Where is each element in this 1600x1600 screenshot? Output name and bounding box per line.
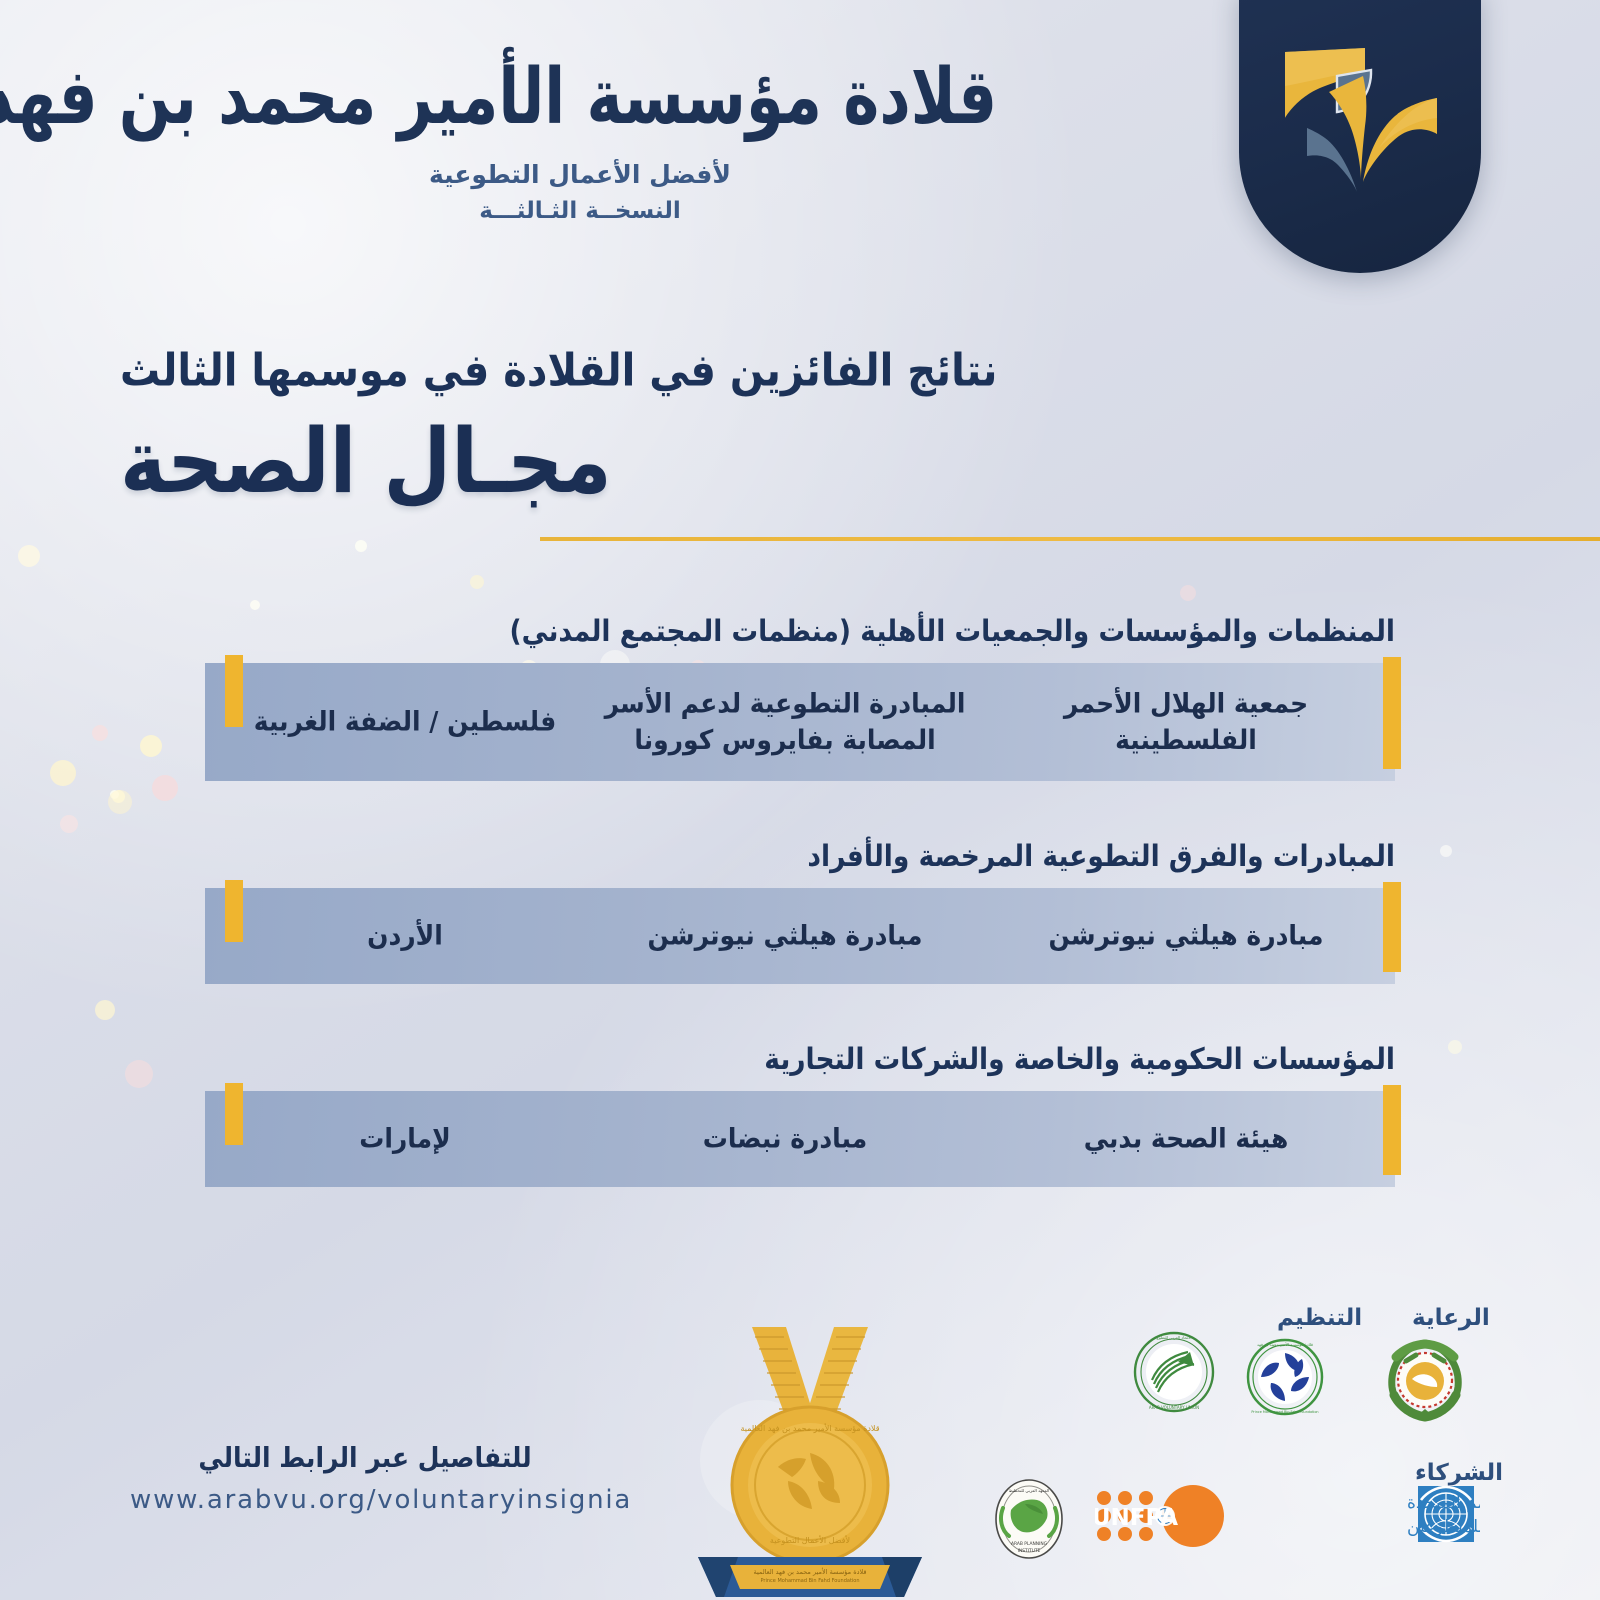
logo-calligraphy-text: قلادة مؤسسة الأمير محمد بن فهد العالمية [163, 52, 997, 143]
svg-text:Prince Mohammad Bin Fahd Found: Prince Mohammad Bin Fahd Foundation [760, 1578, 859, 1584]
page-title: مجـال الصحة [120, 417, 1480, 510]
bokeh-decoration [18, 545, 40, 567]
svg-text:قلادة مؤسسة الأمير محمد بن فهد: قلادة مؤسسة الأمير محمد بن فهد العالمية [753, 1567, 866, 1576]
headline-group: نتائج الفائزين في القلادة في موسمها الثا… [120, 345, 1480, 499]
cell-project: مبادرة هيلثي نيوترشن [575, 918, 995, 954]
svg-text:INSTITUTE: INSTITUTE [1018, 1548, 1041, 1554]
svg-text:قلادة مؤسسة الأمير محمد بن فهد: قلادة مؤسسة الأمير محمد بن فهد [1257, 1342, 1313, 1347]
foundation-wordmark: قلادة مؤسسة الأمير محمد بن فهد العالمية … [150, 52, 1010, 224]
bokeh-decoration [250, 600, 260, 610]
logo-edition: النسخــة الثـالثـــة [150, 198, 1010, 224]
arab-league-logo-icon [1382, 1337, 1468, 1423]
bokeh-decoration [1180, 585, 1196, 601]
result-section: المؤسسات الحكومية والخاصة والشركات التجا… [0, 1042, 1600, 1187]
headline-kicker: نتائج الفائزين في القلادة في موسمها الثا… [120, 345, 1480, 397]
organizer-label: التنظيم [1277, 1305, 1362, 1331]
arab-planning-institute-logo-icon: المعهد العربي للتخطيط ARAB PLANNING INST… [985, 1478, 1073, 1560]
cell-organization: هيئة الصحة بدبي [995, 1121, 1395, 1157]
cell-country: لإمارات [205, 1121, 575, 1157]
sponsor-label: الرعاية [1412, 1305, 1490, 1331]
result-section: المنظمات والمؤسسات والجمعيات الأهلية (من… [0, 614, 1600, 781]
logo-subtitle: لأفضل الأعمال التطوعية [150, 160, 1010, 189]
gold-medal-trophy-icon: قلادة مؤسسة الأمير محمد بن فهد العالمية … [660, 1285, 960, 1600]
section-title: المؤسسات الحكومية والخاصة والشركات التجا… [0, 1042, 1600, 1077]
cell-project: مبادرة نبضات [575, 1121, 995, 1157]
unfpa-logo-icon: UNFPA [1095, 1485, 1235, 1547]
svg-text:ARAB VOLUNTARY UNION: ARAB VOLUNTARY UNION [1149, 1405, 1199, 1410]
details-label: للتفاصيل عبر الرابط التالي [130, 1442, 600, 1474]
prince-mohammad-bin-fahd-foundation-logo-icon: قلادة مؤسسة الأمير محمد بن فهد Prince Mo… [1245, 1337, 1325, 1417]
section-title: المنظمات والمؤسسات والجمعيات الأهلية (من… [0, 614, 1600, 649]
svg-text:الاتحاد العربي للتطوع: الاتحاد العربي للتطوع [1156, 1335, 1191, 1340]
table-row: مبادرة هيلثي نيوترشن مبادرة هيلثي نيوترش… [205, 888, 1395, 984]
svg-text:لأفضل الأعمال التطوعية: لأفضل الأعمال التطوعية [770, 1535, 850, 1545]
cell-country: فلسطين / الضفة الغربية [205, 704, 575, 740]
svg-text:للمتطوعين: للمتطوعين [1407, 1517, 1480, 1537]
table-row: هيئة الصحة بدبي مبادرة نبضات لإمارات [205, 1091, 1395, 1187]
bokeh-decoration [470, 575, 484, 589]
details-url-link[interactable]: www.arabvu.org/voluntaryinsignia [130, 1485, 600, 1515]
section-spacer [0, 984, 1600, 1042]
poster-canvas: قلادة مؤسسة الأمير محمد بن فهد العالمية … [0, 0, 1600, 1600]
foundation-leaf-emblem-icon [1277, 40, 1445, 200]
gold-divider [540, 537, 1600, 541]
section-spacer [0, 781, 1600, 839]
cell-project: المبادرة التطوعية لدعم الأسر المصابة بفا… [575, 686, 995, 759]
table-row: جمعية الهلال الأحمر الفلسطينية المبادرة … [205, 663, 1395, 781]
arab-voluntary-union-logo-icon: الاتحاد العربي للتطوع ARAB VOLUNTARY UNI… [1132, 1330, 1216, 1414]
svg-text:Prince Mohammad Bin Fahd Found: Prince Mohammad Bin Fahd Foundation [1251, 1410, 1318, 1414]
results-list: المنظمات والمؤسسات والجمعيات الأهلية (من… [0, 614, 1600, 1187]
svg-text:برنامج الأمم المتحدة: برنامج الأمم المتحدة [1407, 1492, 1480, 1513]
bokeh-decoration [355, 540, 367, 552]
cell-country: الأردن [205, 918, 575, 954]
foundation-emblem-badge [1239, 0, 1481, 273]
svg-text:ARAB PLANNING: ARAB PLANNING [1011, 1541, 1048, 1547]
section-title: المبادرات والفرق التطوعية المرخصة والأفر… [0, 839, 1600, 874]
result-section: المبادرات والفرق التطوعية المرخصة والأفر… [0, 839, 1600, 984]
cell-organization: مبادرة هيلثي نيوترشن [995, 918, 1395, 954]
cell-organization: جمعية الهلال الأحمر الفلسطينية [995, 686, 1395, 759]
svg-text:قلادة مؤسسة الأمير محمد بن فهد: قلادة مؤسسة الأمير محمد بن فهد العالمية [740, 1423, 879, 1433]
svg-text:UNFPA: UNFPA [1095, 1505, 1178, 1531]
un-volunteers-logo-icon: برنامج الأمم المتحدة للمتطوعين [1255, 1478, 1480, 1550]
details-block: للتفاصيل عبر الرابط التالي www.arabvu.or… [130, 1443, 600, 1515]
svg-text:المعهد العربي للتخطيط: المعهد العربي للتخطيط [1009, 1488, 1049, 1493]
